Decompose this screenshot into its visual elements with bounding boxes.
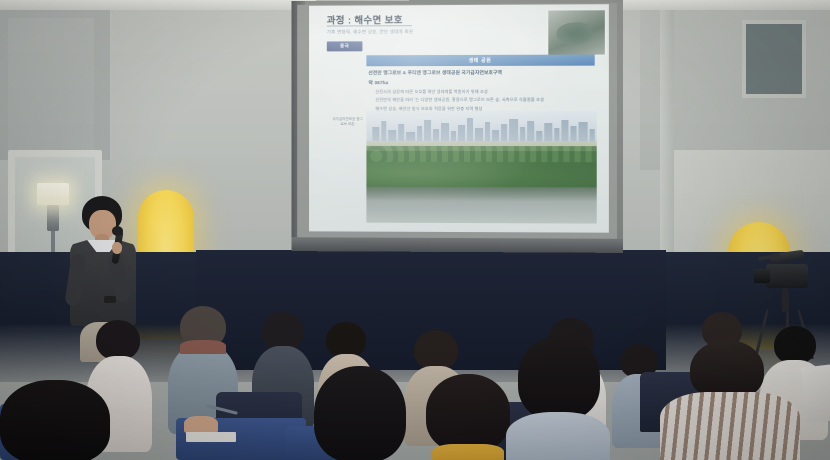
audience-member-striped-shirt bbox=[660, 340, 800, 460]
slide-photo-mangrove-wetland bbox=[366, 111, 596, 224]
photo-mangrove-forest bbox=[366, 151, 596, 189]
photo-water bbox=[366, 187, 596, 224]
slide-title-rule bbox=[327, 25, 412, 26]
audience-scarf bbox=[432, 444, 504, 460]
slide-section-header-label: 생태 공원 bbox=[469, 57, 492, 64]
audience-member-10 bbox=[416, 374, 520, 460]
slide-side-label: 국가급자연보호 맹그로브 보존 bbox=[331, 117, 365, 128]
handout-paper bbox=[801, 364, 830, 423]
audience-hair bbox=[326, 322, 366, 358]
camera-lens-icon bbox=[754, 269, 770, 283]
audience-hand-with-pen bbox=[184, 404, 244, 444]
audience-hair bbox=[414, 330, 458, 370]
projection-screen: 과정 : 해수면 보호 기후 변화적, 해수면 상승, 연안 생태계 복원 중국… bbox=[291, 0, 623, 253]
slide-section-header: 생태 공원 bbox=[366, 55, 594, 67]
audience-hair bbox=[518, 336, 600, 420]
audience-torso bbox=[506, 412, 610, 460]
speaker-hand bbox=[112, 242, 122, 254]
presentation-slide: 과정 : 해수면 보호 기후 변화적, 해수면 상승, 연안 생태계 복원 중국… bbox=[309, 4, 609, 232]
screen-bottom-edge bbox=[291, 237, 623, 253]
audience-striped-shirt bbox=[660, 392, 800, 460]
audience-collar bbox=[180, 340, 226, 354]
slide-bullet-list: 선전만 맹그로브 & 푸티엔 맹그로브 생태공원 국가급자연보호구역 약 367… bbox=[368, 69, 594, 115]
slide-bullet: 선전만의 해안을 따라 '는 다양한 생태공원, 홍콩으로 맹그로브 보존 숲,… bbox=[375, 97, 594, 103]
microphone-head-icon bbox=[112, 226, 123, 236]
audience-hair bbox=[314, 366, 406, 460]
presentation-room-photo: 과정 : 해수면 보호 기후 변화적, 해수면 상승, 연안 생태계 복원 중국… bbox=[0, 0, 830, 460]
pen-icon bbox=[206, 404, 238, 414]
audience-member-6 bbox=[300, 366, 420, 460]
handout-paper bbox=[186, 432, 236, 442]
slide-satellite-thumbnail-icon bbox=[546, 8, 607, 56]
slide-bullet: 선전시의 성장에 따른 보호를 해안 생태계를 복원하기 위해 조성 bbox=[375, 89, 594, 95]
audience-hair bbox=[96, 320, 140, 360]
camera-body bbox=[766, 264, 808, 288]
presenter-clicker-icon bbox=[104, 296, 116, 303]
wall-panel-left-inner bbox=[8, 18, 94, 150]
slide-bullet: 선전만 맹그로브 & 푸티엔 맹그로브 생태공원 국가급자연보호구역 bbox=[368, 69, 594, 77]
photo-city-skyline bbox=[366, 117, 596, 143]
slide-subtitle: 기후 변화적, 해수면 상승, 연안 생태계 복원 bbox=[327, 29, 413, 35]
audience-hair bbox=[262, 312, 304, 350]
sconce-body bbox=[47, 205, 59, 231]
wall-recessed-panel-right bbox=[742, 20, 806, 98]
audience-hair bbox=[690, 340, 764, 400]
audience-handout-right bbox=[804, 366, 830, 422]
slide-bullet: 약 367ha bbox=[368, 79, 594, 86]
audience-hair bbox=[0, 380, 110, 460]
audience-member-11 bbox=[506, 336, 610, 460]
slide-country-tag: 중국 bbox=[327, 41, 363, 51]
audience-hair bbox=[426, 374, 510, 452]
tripod-column bbox=[782, 286, 789, 312]
audience-member-8 bbox=[0, 380, 118, 460]
